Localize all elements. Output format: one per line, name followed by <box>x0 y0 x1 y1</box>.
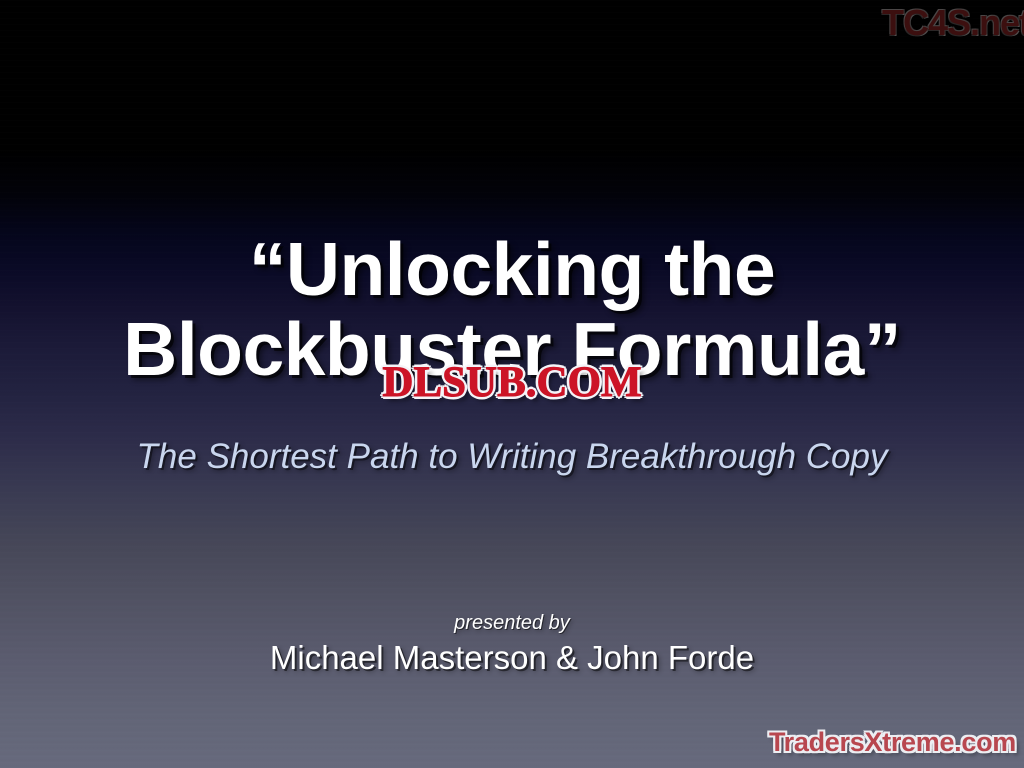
watermark-bottom-right: TradersXtreme.com <box>769 727 1016 758</box>
presented-by-label: presented by <box>0 612 1024 634</box>
slide-title: “Unlocking the Blockbuster Formula” <box>0 233 1024 386</box>
watermark-top-right: TC4S.net <box>882 2 1024 44</box>
presenter-block: presented by Michael Masterson & John Fo… <box>0 612 1024 676</box>
presenter-names: Michael Masterson & John Forde <box>0 640 1024 676</box>
watermark-bottom-right-text: TradersXtreme.com <box>769 727 1016 758</box>
slide-title-line-2: Blockbuster Formula” <box>0 313 1024 387</box>
slide-title-line-1: “Unlocking the <box>0 233 1024 307</box>
watermark-top-right-text: TC4S.net <box>882 2 1024 44</box>
presentation-slide: “Unlocking the Blockbuster Formula” The … <box>0 0 1024 768</box>
slide-subtitle: The Shortest Path to Writing Breakthroug… <box>0 437 1024 477</box>
